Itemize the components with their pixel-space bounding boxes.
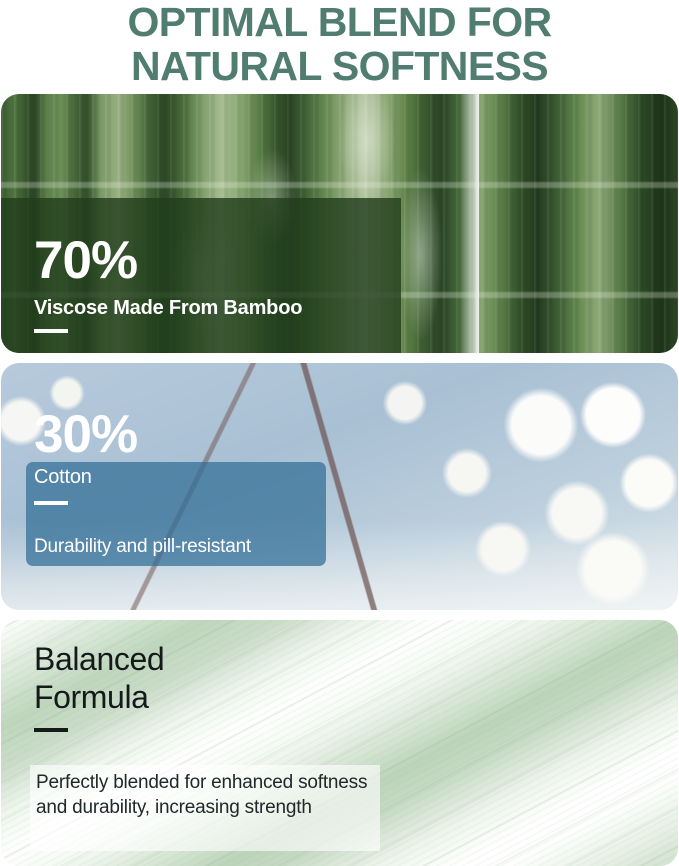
page-title: OPTIMAL BLEND FOR NATURAL SOFTNESS bbox=[0, 0, 679, 88]
balanced-formula-title-line-1: Balanced bbox=[34, 641, 164, 677]
page-title-line-2: NATURAL SOFTNESS bbox=[0, 44, 679, 88]
balanced-formula-description: Perfectly blended for enhanced softness … bbox=[36, 770, 382, 820]
cotton-percent: 30% bbox=[34, 408, 137, 461]
balanced-formula-title: Balanced Formula bbox=[34, 640, 164, 716]
cotton-material-label: Cotton bbox=[34, 466, 92, 489]
cotton-divider bbox=[34, 501, 68, 505]
bamboo-percent: 70% bbox=[34, 234, 137, 287]
cotton-description: Durability and pill-resistant bbox=[34, 535, 324, 559]
panel-balanced-formula: Balanced Formula Perfectly blended for e… bbox=[1, 620, 678, 866]
panel-cotton: 30% Cotton Durability and pill-resistant bbox=[1, 363, 678, 610]
page-title-line-1: OPTIMAL BLEND FOR bbox=[0, 0, 679, 44]
panel-bamboo: 70% Viscose Made From Bamboo Hollow fibe… bbox=[1, 94, 678, 353]
balanced-formula-divider bbox=[34, 728, 68, 732]
bamboo-divider bbox=[34, 329, 68, 333]
bamboo-material-label: Viscose Made From Bamboo bbox=[34, 297, 302, 320]
balanced-formula-title-line-2: Formula bbox=[34, 679, 149, 715]
blend-infographic: OPTIMAL BLEND FOR NATURAL SOFTNESS 70% V… bbox=[0, 0, 679, 866]
